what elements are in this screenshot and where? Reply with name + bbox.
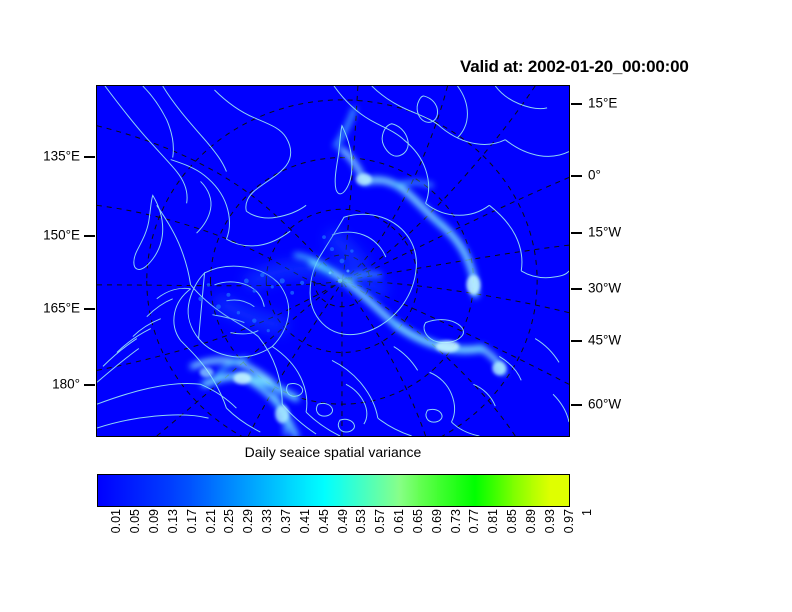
colorbar-tick-label: 0.49 <box>337 509 350 533</box>
left-axis-label-0: 135°E <box>0 149 80 163</box>
colorbar-segment <box>437 475 456 506</box>
colorbar-segment <box>362 475 381 506</box>
right-axis-label-4: 45°W <box>588 333 621 347</box>
colorbar-tick-label: 0.77 <box>468 509 481 533</box>
colorbar <box>97 474 570 507</box>
left-axis-label-2: 165°E <box>0 301 80 315</box>
left-tick-2 <box>84 308 95 310</box>
right-tick-5 <box>571 404 582 406</box>
left-tick-3 <box>84 384 95 386</box>
colorbar-segment <box>381 475 400 506</box>
ocean-background <box>97 86 569 436</box>
colorbar-tick-label: 0.57 <box>374 509 387 533</box>
colorbar-tick-label: 0.21 <box>205 509 218 533</box>
colorbar-tick-labels: 0.010.050.090.130.170.210.250.290.330.37… <box>97 509 570 569</box>
left-tick-1 <box>84 235 95 237</box>
colorbar-tick-label: 0.05 <box>129 509 142 533</box>
right-axis-label-0: 15°E <box>588 96 617 110</box>
colorbar-segment <box>324 475 343 506</box>
colorbar-tick-label: 0.45 <box>318 509 331 533</box>
colorbar-segment <box>531 475 550 506</box>
colorbar-tick-label: 0.01 <box>110 509 123 533</box>
colorbar-tick-label: 0.89 <box>525 509 538 533</box>
right-axis-label-1: 0° <box>588 168 601 182</box>
colorbar-segment <box>550 475 569 506</box>
colorbar-segment <box>230 475 249 506</box>
map-plot-area <box>96 85 570 437</box>
colorbar-segment <box>117 475 136 506</box>
colorbar-segment <box>399 475 418 506</box>
colorbar-tick-label: 0.17 <box>186 509 199 533</box>
colorbar-segment <box>136 475 155 506</box>
right-tick-0 <box>571 103 582 105</box>
colorbar-segment <box>173 475 192 506</box>
colorbar-segment <box>305 475 324 506</box>
right-tick-1 <box>571 175 582 177</box>
colorbar-tick-label: 0.53 <box>355 509 368 533</box>
right-tick-4 <box>571 340 582 342</box>
left-axis-label-1: 150°E <box>0 228 80 242</box>
left-tick-0 <box>84 156 95 158</box>
colorbar-tick-label: 0.25 <box>223 509 236 533</box>
colorbar-tick-label: 1 <box>581 509 594 516</box>
colorbar-segment <box>343 475 362 506</box>
colorbar-segment <box>512 475 531 506</box>
colorbar-tick-label: 0.73 <box>450 509 463 533</box>
colorbar-segment <box>475 475 494 506</box>
map-graphics <box>97 86 569 436</box>
colorbar-tick-label: 0.93 <box>544 509 557 533</box>
colorbar-segment <box>155 475 174 506</box>
colorbar-tick-label: 0.33 <box>261 509 274 533</box>
figure-canvas: Valid at: 2002-01-20_00:00:00 <box>0 0 792 612</box>
colorbar-segment <box>249 475 268 506</box>
colorbar-tick-label: 0.69 <box>431 509 444 533</box>
colorbar-tick-label: 0.65 <box>412 509 425 533</box>
colorbar-tick-label: 0.61 <box>393 509 406 533</box>
right-tick-3 <box>571 288 582 290</box>
colorbar-caption: Daily seaice spatial variance <box>96 444 570 460</box>
right-axis-label-5: 60°W <box>588 397 621 411</box>
colorbar-segment <box>268 475 287 506</box>
colorbar-segment <box>98 475 117 506</box>
colorbar-tick-label: 0.85 <box>506 509 519 533</box>
colorbar-tick-label: 0.13 <box>167 509 180 533</box>
page-title: Valid at: 2002-01-20_00:00:00 <box>460 57 689 77</box>
right-tick-2 <box>571 232 582 234</box>
colorbar-tick-label: 0.29 <box>242 509 255 533</box>
colorbar-segment <box>418 475 437 506</box>
colorbar-tick-label: 0.09 <box>148 509 161 533</box>
colorbar-tick-label: 0.37 <box>280 509 293 533</box>
right-axis-label-2: 15°W <box>588 225 621 239</box>
colorbar-segment <box>286 475 305 506</box>
right-axis-label-3: 30°W <box>588 281 621 295</box>
colorbar-segment <box>192 475 211 506</box>
colorbar-segment <box>211 475 230 506</box>
colorbar-tick-label: 0.97 <box>563 509 576 533</box>
colorbar-tick-label: 0.41 <box>299 509 312 533</box>
colorbar-tick-label: 0.81 <box>487 509 500 533</box>
colorbar-segment <box>494 475 513 506</box>
left-axis-label-3: 180° <box>0 377 80 391</box>
colorbar-segment <box>456 475 475 506</box>
